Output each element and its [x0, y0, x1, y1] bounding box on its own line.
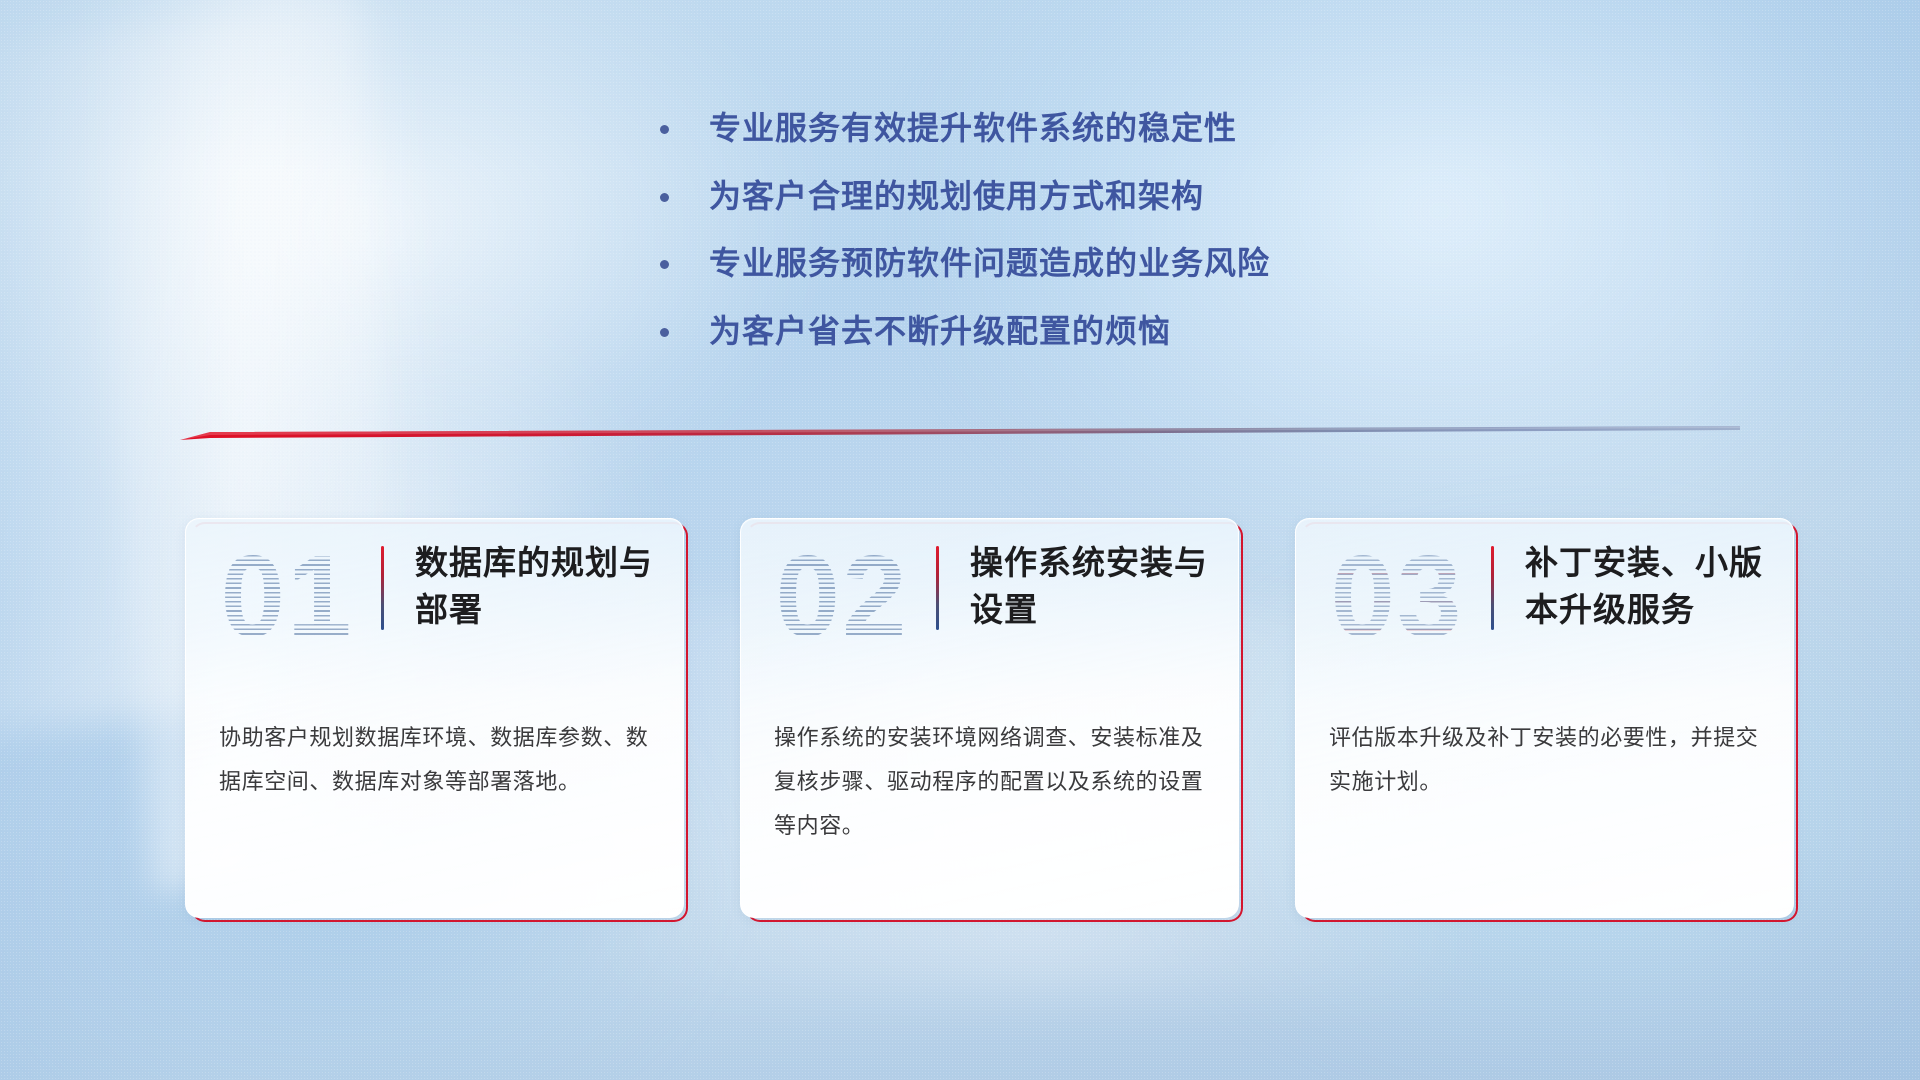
- section-divider-shape: [180, 425, 1740, 447]
- card-description: 评估版本升级及补丁安装的必要性，并提交实施计划。: [1329, 716, 1764, 804]
- card-header: 03 补丁安装、小版本升级服务: [1295, 518, 1794, 690]
- bullet-dot-icon: [660, 125, 669, 134]
- bullet-item: 专业服务预防软件问题造成的业务风险: [660, 243, 1480, 285]
- slide-root: 专业服务有效提升软件系统的稳定性 为客户合理的规划使用方式和架构 专业服务预防软…: [0, 0, 1920, 1080]
- card-number-watermark: 02: [762, 532, 922, 660]
- card-title-rule: [936, 546, 939, 630]
- service-card[interactable]: 01 数据库的规划与部署 协助客户规划数据库环境、数据库参数、数据库空间、数据库…: [185, 518, 684, 918]
- bullet-dot-icon: [660, 193, 669, 202]
- card-content: 03 补丁安装、小版本升级服务 评估版本升级及补丁安装的必要性，并提交实施计划。: [1295, 518, 1794, 918]
- bullet-item-label: 为客户合理的规划使用方式和架构: [709, 176, 1204, 218]
- card-title: 操作系统安装与设置: [970, 540, 1221, 634]
- card-content: 02 操作系统安装与设置 操作系统的安装环境网络调查、安装标准及复核步骤、驱动程…: [740, 518, 1239, 918]
- bullet-item: 为客户省去不断升级配置的烦恼: [660, 311, 1480, 353]
- card-title-rule: [1491, 546, 1494, 630]
- service-card[interactable]: 03 补丁安装、小版本升级服务 评估版本升级及补丁安装的必要性，并提交实施计划。: [1295, 518, 1794, 918]
- service-cards-row: 01 数据库的规划与部署 协助客户规划数据库环境、数据库参数、数据库空间、数据库…: [185, 518, 1795, 918]
- card-number-watermark: 01: [207, 532, 367, 660]
- bullet-item-label: 为客户省去不断升级配置的烦恼: [709, 311, 1171, 353]
- card-content: 01 数据库的规划与部署 协助客户规划数据库环境、数据库参数、数据库空间、数据库…: [185, 518, 684, 918]
- benefits-bullet-list: 专业服务有效提升软件系统的稳定性 为客户合理的规划使用方式和架构 专业服务预防软…: [660, 108, 1480, 378]
- card-title-rule: [381, 546, 384, 630]
- bullet-dot-icon: [660, 328, 669, 337]
- section-divider: [180, 425, 1740, 447]
- bullet-item: 专业服务有效提升软件系统的稳定性: [660, 108, 1480, 150]
- card-header: 01 数据库的规划与部署: [185, 518, 684, 690]
- bullet-dot-icon: [660, 260, 669, 269]
- bullet-item-label: 专业服务有效提升软件系统的稳定性: [709, 108, 1237, 150]
- service-card[interactable]: 02 操作系统安装与设置 操作系统的安装环境网络调查、安装标准及复核步骤、驱动程…: [740, 518, 1239, 918]
- card-title: 数据库的规划与部署: [415, 540, 666, 634]
- card-description: 协助客户规划数据库环境、数据库参数、数据库空间、数据库对象等部署落地。: [219, 716, 654, 804]
- card-header: 02 操作系统安装与设置: [740, 518, 1239, 690]
- card-description: 操作系统的安装环境网络调查、安装标准及复核步骤、驱动程序的配置以及系统的设置等内…: [774, 716, 1209, 848]
- card-number-watermark: 03: [1317, 532, 1477, 660]
- card-title: 补丁安装、小版本升级服务: [1525, 540, 1776, 634]
- bullet-item: 为客户合理的规划使用方式和架构: [660, 176, 1480, 218]
- bullet-item-label: 专业服务预防软件问题造成的业务风险: [709, 243, 1270, 285]
